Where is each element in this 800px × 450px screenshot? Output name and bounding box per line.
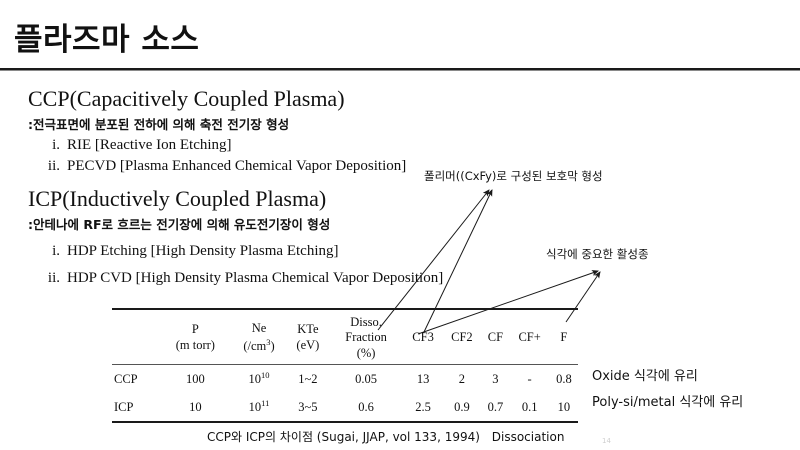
row-label-ccp: CCP <box>112 365 160 394</box>
cell-icp-ne: 1011 <box>231 393 288 422</box>
page-number: 14 <box>602 437 611 445</box>
side-note-oxide: Oxide 식각에 유리 <box>592 365 698 384</box>
table-col-header-cfplus: CF+ <box>510 309 550 365</box>
table-col-header-disso-fraction: Disso. Fraction (%) <box>329 309 404 365</box>
list-text: HDP Etching [High Density Plasma Etching… <box>67 243 339 259</box>
cell-ccp-f: 0.8 <box>550 365 578 394</box>
cell-icp-kte: 3~5 <box>287 393 328 422</box>
cell-ccp-cf3: 13 <box>404 365 443 394</box>
table-caption: CCP와 ICP의 차이점 (Sugai, JJAP, vol 133, 199… <box>207 428 564 445</box>
annotation-radical-note: 식각에 중요한 활성종 <box>546 246 649 262</box>
table-col-header-cf2: CF2 <box>443 309 482 365</box>
list-marker: ii. <box>40 158 60 175</box>
list-text: RIE [Reactive Ion Etching] <box>67 137 232 153</box>
title-divider <box>0 68 800 71</box>
table-col-header-blank <box>112 309 160 365</box>
side-note-polysi: Poly-si/metal 식각에 유리 <box>592 391 743 410</box>
cell-ccp-kte: 1~2 <box>287 365 328 394</box>
cell-icp-cf3: 2.5 <box>404 393 443 422</box>
table-col-header-p: P (m torr) <box>160 309 231 365</box>
icp-list-item-1: i.HDP Etching [High Density Plasma Etchi… <box>40 243 339 260</box>
ccp-list-item-1: i.RIE [Reactive Ion Etching] <box>40 137 232 154</box>
cell-ccp-p: 100 <box>160 365 231 394</box>
cell-ccp-ne: 1010 <box>231 365 288 394</box>
caption-tail: Dissociation <box>484 430 565 444</box>
cell-icp-p: 10 <box>160 393 231 422</box>
cell-icp-disso: 0.6 <box>329 393 404 422</box>
cell-icp-cf2: 0.9 <box>443 393 482 422</box>
cell-icp-cfplus: 0.1 <box>510 393 550 422</box>
cell-icp-f: 10 <box>550 393 578 422</box>
table-col-header-f: F <box>550 309 578 365</box>
table-col-header-cf: CF <box>481 309 509 365</box>
table-row: CCP 100 1010 1~2 0.05 13 2 3 - 0.8 <box>112 365 578 394</box>
table-col-header-ne: Ne (/cm3) <box>231 309 288 365</box>
ne-unit: (/cm3) <box>231 337 288 355</box>
comparison-table: P (m torr) Ne (/cm3) KTe (eV) <box>112 308 578 423</box>
table-col-header-cf3: CF3 <box>404 309 443 365</box>
ccp-subline: :전극표면에 분포된 전하에 의해 축전 전기장 형성 <box>28 114 289 133</box>
list-marker: i. <box>40 243 60 260</box>
list-text: PECVD [Plasma Enhanced Chemical Vapor De… <box>67 158 406 174</box>
cell-ccp-cf2: 2 <box>443 365 482 394</box>
cell-icp-cf: 0.7 <box>481 393 509 422</box>
list-text: HDP CVD [High Density Plasma Chemical Va… <box>67 270 443 286</box>
cell-ccp-cfplus: - <box>510 365 550 394</box>
table-header: P (m torr) Ne (/cm3) KTe (eV) <box>112 309 578 365</box>
icp-heading: ICP(Inductively Coupled Plasma) <box>28 186 326 212</box>
icp-list-item-2: ii.HDP CVD [High Density Plasma Chemical… <box>40 270 443 287</box>
cell-ccp-disso: 0.05 <box>329 365 404 394</box>
table-col-header-kte: KTe (eV) <box>287 309 328 365</box>
slide-canvas: 플라즈마 소스 CCP(Capacitively Coupled Plasma)… <box>0 0 800 450</box>
page-title: 플라즈마 소스 <box>14 14 199 59</box>
annotation-polymer-note: 폴리머((CxFy)로 구성된 보호막 형성 <box>424 168 603 184</box>
ccp-list-item-2: ii.PECVD [Plasma Enhanced Chemical Vapor… <box>40 158 406 175</box>
cell-ccp-cf: 3 <box>481 365 509 394</box>
row-label-icp: ICP <box>112 393 160 422</box>
table-row: ICP 10 1011 3~5 0.6 2.5 0.9 0.7 0.1 10 <box>112 393 578 422</box>
ccp-heading: CCP(Capacitively Coupled Plasma) <box>28 86 345 112</box>
table-body: CCP 100 1010 1~2 0.05 13 2 3 - 0.8 ICP 1… <box>112 365 578 423</box>
caption-main: CCP와 ICP의 차이점 (Sugai, JJAP, vol 133, 199… <box>207 430 480 444</box>
icp-subline: :안테나에 RF로 흐르는 전기장에 의해 유도전기장이 형성 <box>28 214 330 233</box>
list-marker: i. <box>40 137 60 154</box>
list-marker: ii. <box>40 270 60 287</box>
